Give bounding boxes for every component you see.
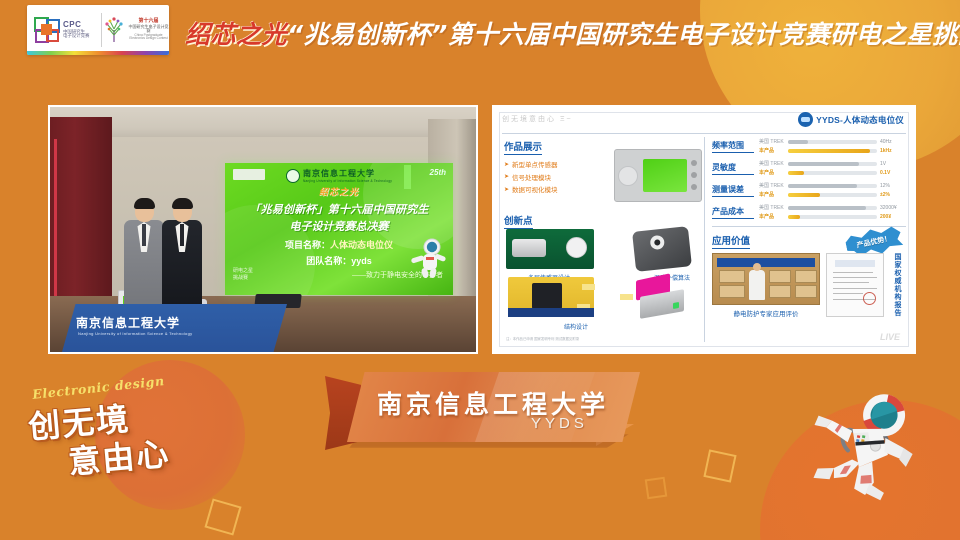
metric-ref-fill [788,184,857,188]
metric-ours: 本产品 0.1V [759,168,906,177]
metric-our-label: 本产品 [759,169,785,176]
product-button-2 [691,172,697,178]
metric-ref-track [788,184,877,188]
metric-reference: 美国 TREK 32000¥ [759,203,906,212]
metric-name: 频率范围 [712,140,754,153]
photo-box [719,285,745,298]
table-banner-text-en: Nanjing University of Information Scienc… [78,331,192,336]
yyds-seal-icon [798,112,813,127]
metric-our-track [788,171,877,175]
metric-ours: 本产品 200¥ [759,212,906,221]
presenter-table: 南京信息工程大学 Nanjing University of Informati… [62,304,287,352]
cpc-line3: 电子设计竞赛 [63,34,89,39]
metric-our-value: 200¥ [880,214,906,220]
expert-evaluation-photo [712,253,820,305]
metric-our-value: 0.1V [880,170,906,176]
screen-org-name: 南京信息工程大学 Nanjing University of Informati… [303,168,392,183]
product-knob [618,166,638,186]
projection-screen: 南京信息工程大学 Nanjing University of Informati… [225,163,453,295]
metric-ref-label: 美国 TREK [759,138,785,145]
slide-watermark: 创无境意由心 Ξ~ [502,114,573,124]
product-display [643,159,687,192]
cert-stamp-icon [863,292,876,305]
metric-name: 产品成本 [712,206,754,219]
arrow-icon: ➤ [504,161,509,168]
presenter-two-head [173,200,192,222]
section-title-application: 应用价值 [712,233,750,249]
metric-ref-fill [788,206,866,210]
slogan-line2: 意由心 [66,429,172,484]
screen-org-name-en: Nanjing University of Information Scienc… [303,179,392,183]
photo-box [769,285,791,298]
tree-logo-icon [102,16,126,44]
contest-logo-card: CPC 中国研究生 电子设计竞赛 [27,5,169,55]
host-line3: China Postgraduate Electronics Design Co… [128,34,169,41]
metric-reference: 美国 TREK 12% [759,181,906,190]
presenter-one-body [124,220,164,306]
application-photo-group: 静电防护专家应用评价 [712,253,820,318]
metric-ref-track [788,162,877,166]
screen-astronaut-icon [407,237,447,279]
metric-row: 频率范围 美国 TREK 40Hz 本产品 1kHz [712,137,906,155]
metric-our-fill [788,171,804,175]
event-slogan: Electronic design 创无境 意由心 [26,378,226,483]
metric-row: 产品成本 美国 TREK 32000¥ 本产品 200¥ [712,203,906,221]
metric-row: 测量误差 美国 TREK 12% 本产品 ±2% [712,181,906,199]
metric-reference: 美国 TREK 40Hz [759,137,906,146]
logo-rainbow-strip [27,51,169,55]
screen-corner-note: 研电之星挑战赛 [233,268,253,281]
table-banner-text: 南京信息工程大学 [76,314,180,331]
screen-team-name: yyds [351,256,372,266]
team-name-banner: 南京信息工程大学 YYDS [325,372,640,454]
product-button-3 [691,184,697,190]
screen-line1: 「兆易创新杯」第十六届中国研究生 [225,201,453,217]
cpc-logo-text: CPC 中国研究生 电子设计竞赛 [63,21,89,39]
product-photo [614,149,702,202]
decor-diamond-1 [204,498,241,535]
cpc-logo-group: CPC 中国研究生 电子设计竞赛 [27,5,101,55]
metric-ref-fill [788,140,808,144]
presenter-one-head [135,200,154,222]
metric-ref-label: 美国 TREK [759,182,785,189]
caption-structure: 结构设计 [516,322,636,331]
metric-our-label: 本产品 [759,147,785,154]
slide-left-column: 作品展示 ➤新型单点传感器 ➤信号处理模块 ➤数据可视化模块 创新点 多层传感器… [504,137,704,344]
title-highlight: 绍芯之光 [185,15,287,51]
decor-diamond-3 [645,477,668,500]
photo-person [749,270,765,300]
screen-anniversary: 25th [430,168,446,177]
university-seal-icon [286,169,300,183]
metric-name: 测量误差 [712,184,754,197]
metric-reference: 美国 TREK 1V [759,159,906,168]
metric-our-fill [788,215,800,219]
metric-our-track [788,193,877,197]
screen-project-label: 项目名称： [285,240,330,250]
broadcast-overlay-stage: CPC 中国研究生 电子设计竞赛 [0,0,960,540]
photo-banner [717,258,815,267]
slide-brand-text: YYDS-人体动态电位仪 [816,114,904,126]
caption-expert-evaluation: 静电防护专家应用评价 [712,308,820,318]
application-row: 静电防护专家应用评价 国家权威机构报告 [712,253,906,318]
metric-ref-value: 32000¥ [880,205,906,211]
photo-box [795,270,817,283]
product-button-1 [691,160,697,166]
metric-ref-label: 美国 TREK [759,204,785,211]
authority-report-document [826,253,884,317]
metric-bars: 美国 TREK 1V 本产品 0.1V [759,159,906,177]
metric-name: 灵敏度 [712,162,754,175]
photo-box [769,270,791,283]
page-title: 绍芯之光 “兆易创新杯”第十六届中国研究生电子设计竞赛研电之星挑战赛 [185,15,960,51]
slide-brand: YYDS-人体动态电位仪 [798,112,904,127]
presenter-two [162,200,202,306]
title-rest: “兆易创新杯”第十六届中国研究生电子设计竞赛研电之星挑战赛 [287,15,960,51]
metric-our-value: 1kHz [880,148,906,154]
decor-diamond-2 [703,449,736,482]
metric-our-fill [788,149,870,153]
metric-ref-label: 美国 TREK [759,160,785,167]
slide-right-column: 频率范围 美国 TREK 40Hz 本产品 1kHz 灵敏度 [712,137,906,344]
metric-our-label: 本产品 [759,191,785,198]
enclosure-3d-model [634,277,692,317]
header-bar: CPC 中国研究生 电子设计竞赛 [0,0,960,64]
metric-ref-value: 12% [880,183,906,189]
metric-our-track [788,215,877,219]
metric-our-label: 本产品 [759,213,785,220]
metric-bars: 美国 TREK 40Hz 本产品 1kHz [759,137,906,155]
arrow-icon: ➤ [504,173,509,180]
presenter-one [124,200,164,306]
metric-ours: 本产品 ±2% [759,190,906,199]
screen-subtitle: 绍芯之光 [225,185,453,198]
screen-sponsor-badge [233,169,265,180]
metric-ours: 本产品 1kHz [759,146,906,155]
slide-header: 创无境意由心 Ξ~ YYDS-人体动态电位仪 [502,111,906,133]
pcb-layout-diagram [508,277,594,317]
screen-line2: 电子设计竞赛总决赛 [225,218,453,234]
section-title-innovation: 创新点 [504,213,533,229]
metric-ref-track [788,140,877,144]
team-name: YYDS [531,415,588,432]
contest-logo-icon [34,17,60,43]
metric-ref-fill [788,162,859,166]
live-watermark: LIVE [880,332,900,342]
metric-bars: 美国 TREK 32000¥ 本产品 200¥ [759,203,906,221]
sensor-pcb-photo [506,229,594,269]
presenter-two-body [162,220,202,306]
slide-header-rule [502,133,906,134]
slide-column-divider [704,137,705,342]
live-video-feed[interactable]: 南京信息工程大学 Nanjing University of Informati… [48,105,478,354]
temperature-sensor-photo [632,226,692,272]
slide-right-rule [712,226,906,227]
metric-bars: 美国 TREK 12% 本产品 ±2% [759,181,906,199]
screen-team-label: 团队名称： [306,256,351,266]
presentation-slide-feed[interactable]: 创无境意由心 Ξ~ YYDS-人体动态电位仪 作品展示 ➤新型单点传感器 ➤信号… [492,105,916,354]
cert-header [835,260,875,267]
photo-box [719,270,745,283]
metric-ref-value: 40Hz [880,139,906,145]
section-title-showcase: 作品展示 [504,139,542,155]
metric-our-track [788,149,877,153]
metric-ref-track [788,206,877,210]
screen-university-logo: 南京信息工程大学 Nanjing University of Informati… [286,168,392,183]
metric-our-fill [788,193,820,197]
host-logo-group: 第十六届 中国研究生电子设计竞赛 China Postgraduate Elec… [102,5,169,55]
photo-box [795,285,817,298]
metric-our-value: ±2% [880,192,906,198]
host-logo-text: 第十六届 中国研究生电子设计竞赛 China Postgraduate Elec… [128,19,169,40]
arrow-icon: ➤ [504,186,509,193]
metric-ref-value: 1V [880,161,906,167]
slide-footnote: 注：本作品已申请 国家发明专利 测试数据见附录 [506,337,579,342]
screen-project-name: 人体动态电位仪 [330,240,393,250]
authority-report-label: 国家权威机构报告 [892,253,902,317]
metric-row: 灵敏度 美国 TREK 1V 本产品 0.1V [712,159,906,177]
